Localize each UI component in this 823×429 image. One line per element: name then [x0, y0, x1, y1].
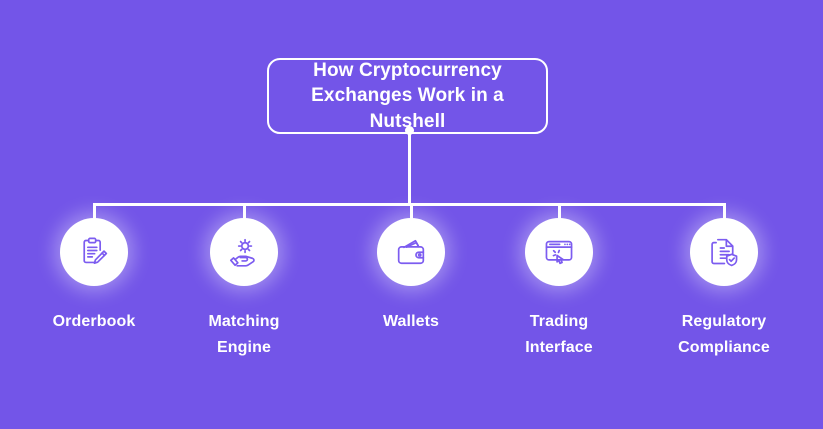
node-icon-badge[interactable] [60, 218, 128, 286]
node-orderbook[interactable]: Orderbook [19, 218, 169, 335]
document-shield-icon [707, 235, 741, 269]
wallet-icon [394, 235, 428, 269]
node-trading-interface[interactable]: Trading Interface [484, 218, 634, 360]
node-icon-badge[interactable] [210, 218, 278, 286]
title-card: How Cryptocurrency Exchanges Work in a N… [267, 58, 548, 134]
bus-connector-horizontal [93, 203, 725, 206]
infographic-canvas: How Cryptocurrency Exchanges Work in a N… [0, 0, 823, 429]
browser-click-icon [542, 235, 576, 269]
node-icon-badge[interactable] [690, 218, 758, 286]
node-icon-badge[interactable] [525, 218, 593, 286]
node-regulatory-compliance[interactable]: Regulatory Compliance [649, 218, 799, 360]
node-icon-badge[interactable] [377, 218, 445, 286]
node-wallets[interactable]: Wallets [336, 218, 486, 335]
node-label: Wallets [383, 309, 439, 335]
node-label: Matching Engine [208, 309, 279, 360]
clipboard-pencil-icon [77, 235, 111, 269]
node-label: Orderbook [53, 309, 136, 335]
node-label: Regulatory Compliance [678, 309, 770, 360]
page-title: How Cryptocurrency Exchanges Work in a N… [269, 58, 546, 135]
trunk-connector-vertical [408, 134, 411, 206]
node-matching-engine[interactable]: Matching Engine [169, 218, 319, 360]
hand-gear-icon [227, 235, 261, 269]
node-label: Trading Interface [525, 309, 593, 360]
